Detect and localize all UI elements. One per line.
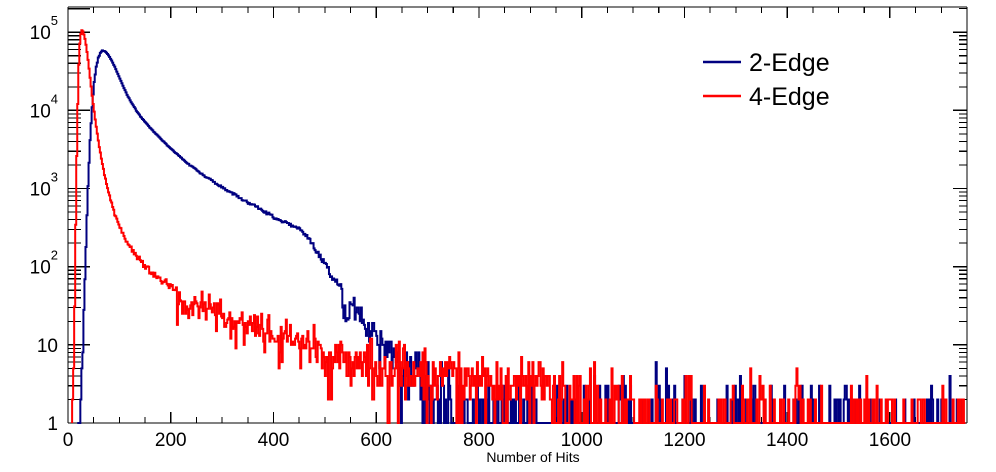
x-tick-label: 1200 — [663, 430, 705, 451]
y-tick-label: 104 — [30, 91, 58, 123]
x-tick-label: 800 — [463, 430, 495, 451]
legend-label-4-edge: 4-Edge — [749, 83, 830, 111]
legend-label-2-edge: 2-Edge — [749, 49, 830, 77]
x-tick-label: 0 — [63, 430, 74, 451]
data-series-group — [72, 30, 965, 423]
x-axis-title: Number of Hits — [486, 449, 579, 465]
x-tick-label: 1400 — [766, 430, 808, 451]
x-tick-label: 1600 — [869, 430, 911, 451]
y-tick-label: 10 — [37, 336, 58, 357]
plot-frame — [68, 7, 967, 423]
histogram-plot: 110102103104105 020040060080010001200140… — [0, 0, 996, 472]
legend: 2-Edge4-Edge — [703, 49, 830, 111]
y-tick-label: 1 — [47, 414, 58, 435]
x-tick-label: 200 — [155, 430, 187, 451]
y-tick-label: 102 — [30, 247, 58, 279]
x-tick-label: 400 — [258, 430, 290, 451]
x-tick-label: 600 — [360, 430, 392, 451]
y-tick-label: 105 — [30, 13, 58, 45]
x-tick-label: 1000 — [561, 430, 603, 451]
plot-canvas: 110102103104105 020040060080010001200140… — [0, 0, 996, 472]
series-4-edge — [72, 30, 965, 423]
y-tick-label: 103 — [30, 169, 58, 201]
